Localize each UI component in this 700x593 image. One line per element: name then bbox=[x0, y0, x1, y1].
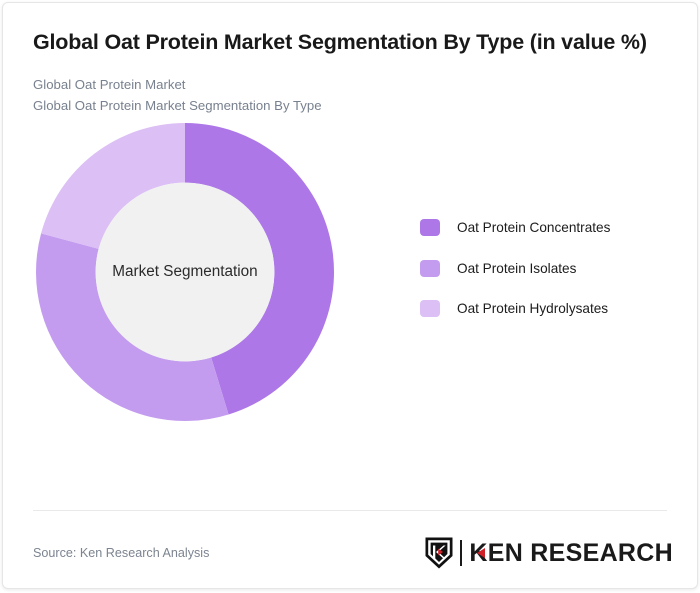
logo-wordmark-text: EN RESEARCH bbox=[488, 539, 673, 568]
shield-icon bbox=[424, 536, 454, 570]
donut-hole bbox=[96, 183, 275, 362]
subtitle-segmentation: Global Oat Protein Market Segmentation B… bbox=[33, 95, 667, 116]
donut-svg bbox=[36, 123, 334, 421]
legend-swatch-icon bbox=[420, 260, 440, 277]
logo-k-glyph: K bbox=[469, 539, 487, 568]
chart-legend: Oat Protein ConcentratesOat Protein Isol… bbox=[420, 219, 670, 341]
source-label: Source: Ken Research Analysis bbox=[33, 546, 209, 560]
chart-footer: Source: Ken Research Analysis KEN RESEAR… bbox=[33, 533, 673, 573]
plot-area: Market Segmentation Oat Protein Concentr… bbox=[3, 116, 697, 446]
logo-wordmark: KEN RESEARCH bbox=[469, 539, 673, 568]
donut-chart: Market Segmentation bbox=[36, 123, 334, 421]
legend-item-label: Oat Protein Hydrolysates bbox=[457, 301, 608, 316]
legend-item-label: Oat Protein Concentrates bbox=[457, 220, 610, 235]
chart-header: Global Oat Protein Market Segmentation B… bbox=[3, 3, 697, 116]
subtitle-market: Global Oat Protein Market bbox=[33, 74, 667, 95]
legend-item[interactable]: Oat Protein Isolates bbox=[420, 260, 670, 277]
legend-swatch-icon bbox=[420, 219, 440, 236]
logo-separator bbox=[460, 540, 462, 566]
legend-swatch-icon bbox=[420, 300, 440, 317]
red-triangle-icon bbox=[477, 548, 485, 558]
legend-item-label: Oat Protein Isolates bbox=[457, 261, 576, 276]
footer-divider bbox=[33, 510, 667, 511]
chart-card: Global Oat Protein Market Segmentation B… bbox=[2, 2, 698, 589]
legend-item[interactable]: Oat Protein Concentrates bbox=[420, 219, 670, 236]
legend-item[interactable]: Oat Protein Hydrolysates bbox=[420, 300, 670, 317]
subtitle-block: Global Oat Protein Market Global Oat Pro… bbox=[33, 74, 667, 117]
ken-research-logo: KEN RESEARCH bbox=[424, 536, 673, 570]
page-title: Global Oat Protein Market Segmentation B… bbox=[33, 29, 653, 57]
